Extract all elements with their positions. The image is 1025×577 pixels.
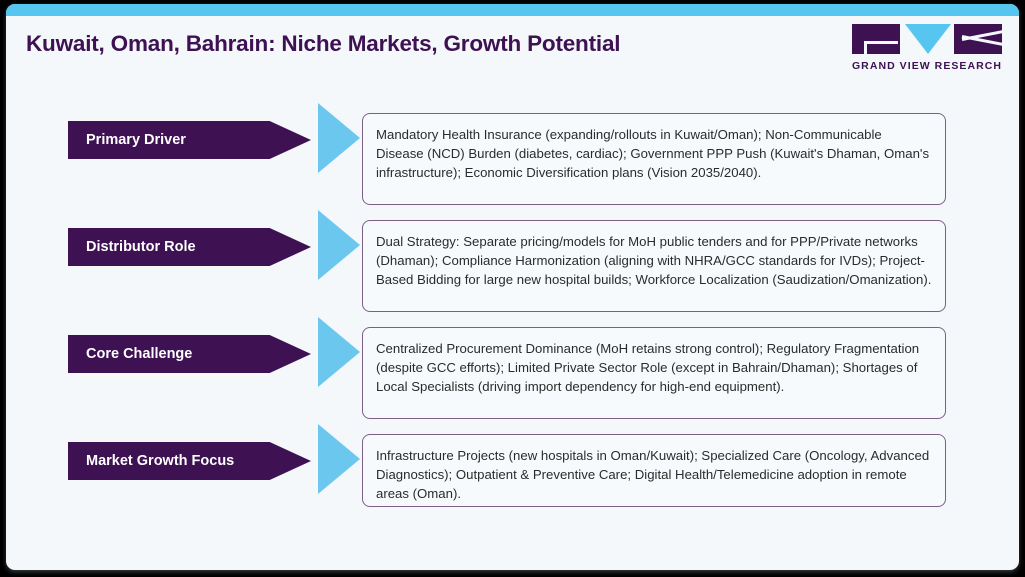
arrow-right-icon: [318, 424, 360, 494]
page-title: Kuwait, Oman, Bahrain: Niche Markets, Gr…: [26, 31, 620, 57]
brand-logo: GRAND VIEW RESEARCH: [849, 24, 1005, 80]
row-label-chevron: Distributor Role: [68, 228, 311, 266]
logo-g-icon: [852, 24, 900, 54]
arrow-right-icon: [318, 103, 360, 173]
logo-v-icon: [905, 24, 951, 54]
row-label-chevron: Core Challenge: [68, 335, 311, 373]
infographic-card: Kuwait, Oman, Bahrain: Niche Markets, Gr…: [6, 4, 1019, 570]
logo-caption: GRAND VIEW RESEARCH: [849, 60, 1005, 72]
arrow-right-icon: [318, 317, 360, 387]
row-label-chevron: Primary Driver: [68, 121, 311, 159]
row-description-box: Centralized Procurement Dominance (MoH r…: [362, 327, 946, 419]
card-top-accent-bar: [6, 4, 1019, 16]
logo-r-icon: [954, 24, 1002, 54]
row-description-box: Infrastructure Projects (new hospitals i…: [362, 434, 946, 507]
row-label-text: Core Challenge: [86, 346, 192, 362]
row-label-text: Primary Driver: [86, 132, 186, 148]
row-label-text: Market Growth Focus: [86, 453, 234, 469]
row-description-box: Mandatory Health Insurance (expanding/ro…: [362, 113, 946, 205]
arrow-right-icon: [318, 210, 360, 280]
row-label-text: Distributor Role: [86, 239, 196, 255]
logo-marks: [849, 24, 1005, 54]
row-description-box: Dual Strategy: Separate pricing/models f…: [362, 220, 946, 312]
screenshot-stage: Kuwait, Oman, Bahrain: Niche Markets, Gr…: [0, 0, 1025, 577]
row-label-chevron: Market Growth Focus: [68, 442, 311, 480]
